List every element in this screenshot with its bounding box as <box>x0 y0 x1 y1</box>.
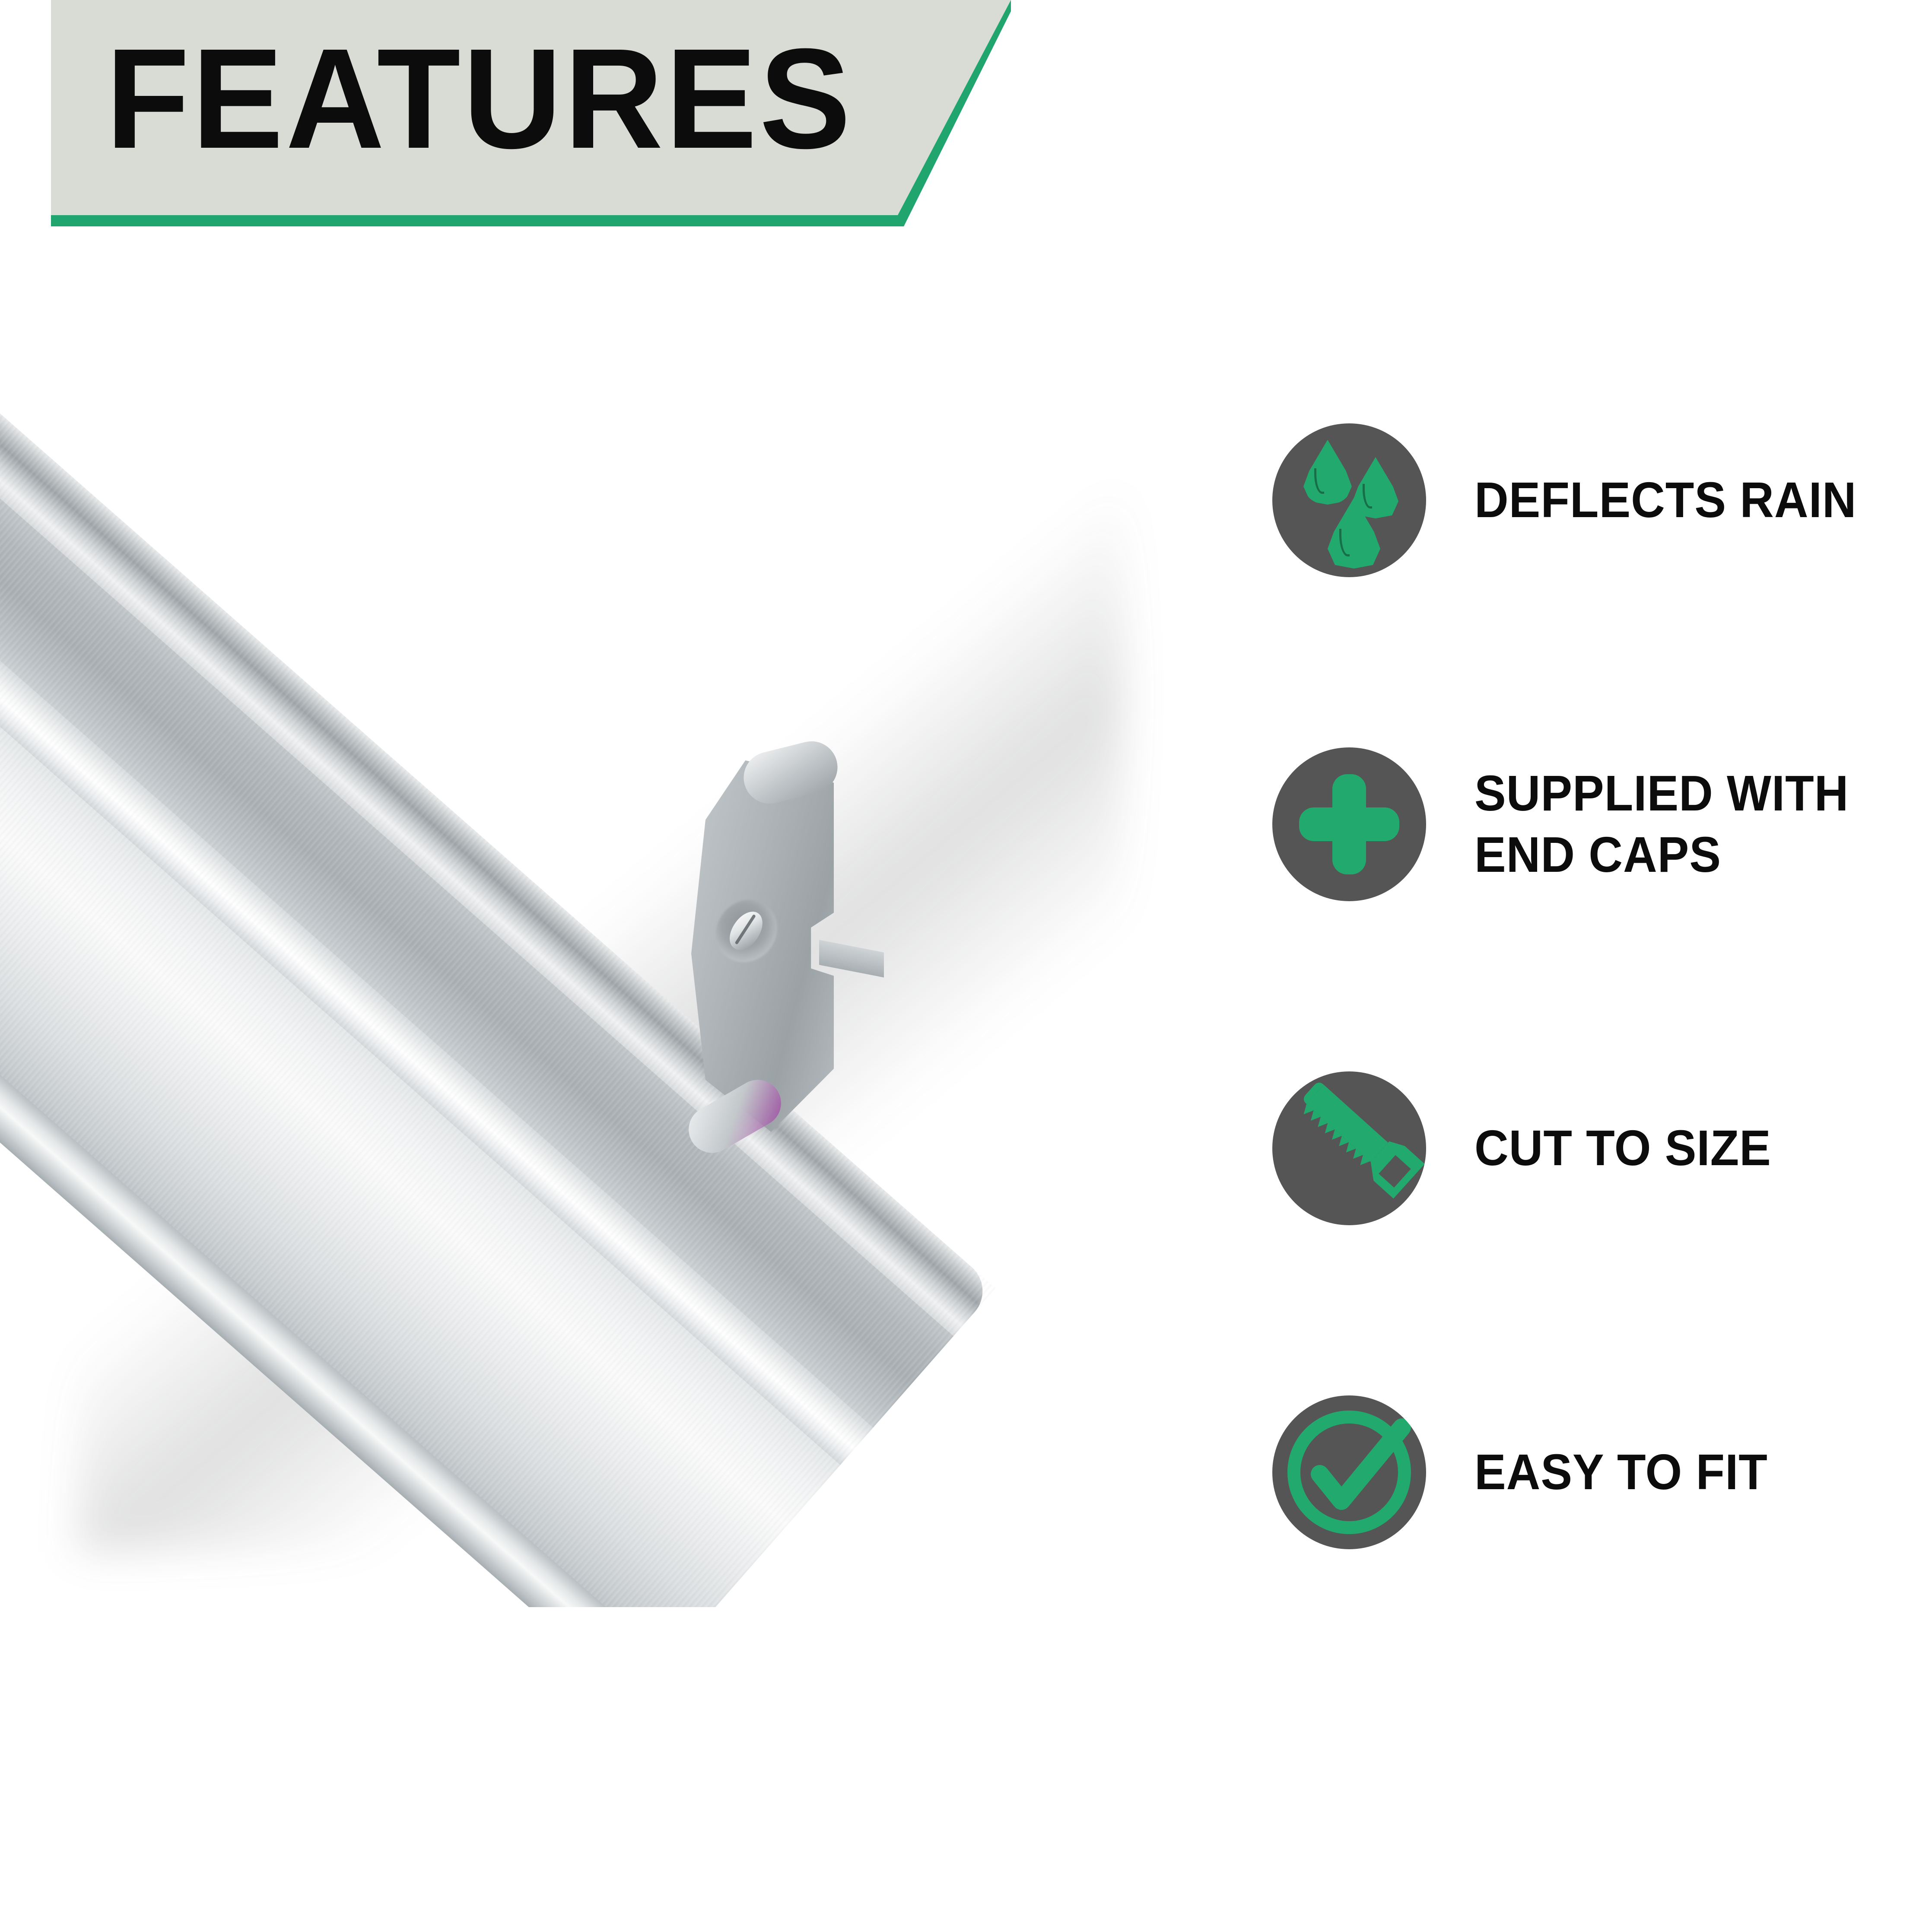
features-header-banner: FEATURES <box>0 0 1011 229</box>
feature-label: SUPPLIED WITH END CAPS <box>1474 763 1849 885</box>
feature-label: CUT TO SIZE <box>1474 1118 1771 1179</box>
rain-drops-icon <box>1272 423 1426 577</box>
features-list: DEFLECTS RAIN SUPPLIED WITH END CAPS <box>1272 423 1920 1549</box>
feature-item-easy-to-fit: EASY TO FIT <box>1272 1395 1920 1549</box>
feature-label: DEFLECTS RAIN <box>1474 470 1857 531</box>
rain-drop-icon-1 <box>1303 440 1352 505</box>
feature-item-deflects-rain: DEFLECTS RAIN <box>1272 423 1920 577</box>
plus-icon-vertical-bar <box>1332 774 1366 874</box>
feature-item-cut-to-size: CUT TO SIZE <box>1272 1071 1920 1225</box>
handsaw-icon-glyph <box>1272 1071 1426 1225</box>
product-photo-aluminium-bar <box>0 328 1184 1607</box>
check-circle-icon <box>1272 1395 1426 1549</box>
page-title: FEATURES <box>106 8 853 189</box>
cross-section-fin <box>819 940 884 977</box>
feature-item-supplied-with-end-caps: SUPPLIED WITH END CAPS <box>1272 747 1920 901</box>
feature-label: EASY TO FIT <box>1474 1442 1768 1503</box>
handsaw-icon <box>1272 1071 1426 1225</box>
plus-icon <box>1272 747 1426 901</box>
check-circle-icon-glyph <box>1272 1395 1426 1549</box>
